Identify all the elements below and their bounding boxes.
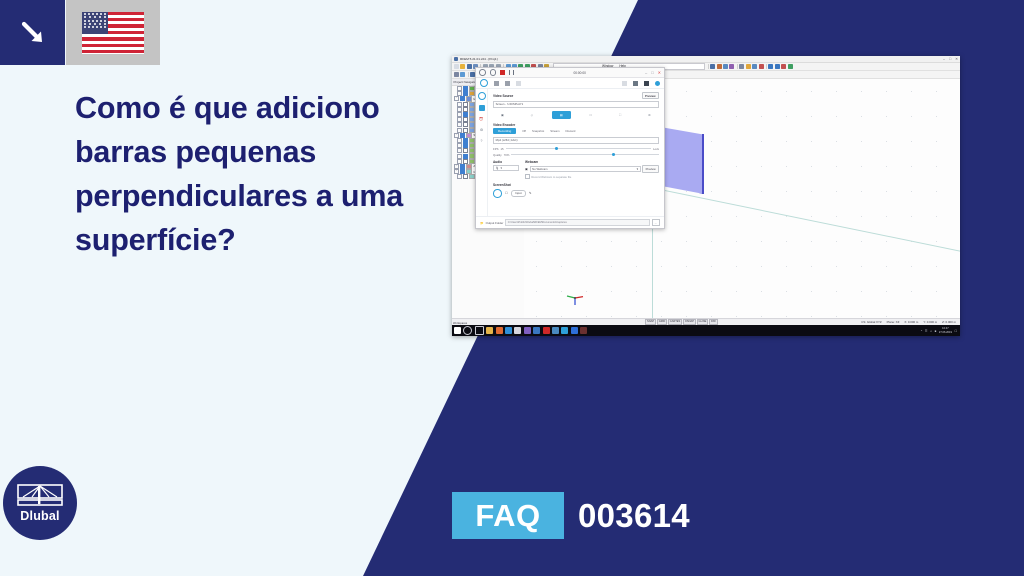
open-icon[interactable] (460, 64, 465, 69)
rfem-doc-icon[interactable] (552, 327, 559, 334)
quality-value: 70% (504, 153, 510, 157)
output-folder-label: Output Folder (486, 221, 504, 225)
deform-icon[interactable] (717, 64, 722, 69)
screenshot-controls[interactable]: ☐ Input ✎ (493, 189, 659, 198)
help-icon[interactable]: ? (479, 138, 485, 144)
chevron-up-icon[interactable]: ^ (921, 329, 922, 333)
faq-badge-label: FAQ (475, 498, 540, 534)
output-folder-path[interactable]: C:\Users\Public\Dlubal\RFEM\Documents\Ca… (505, 219, 649, 226)
quality-slider-row[interactable]: Quality 70% (493, 153, 659, 157)
battery-icon[interactable]: ■ (935, 329, 937, 333)
slide-canvas: Como é que adiciono barras pequenas perp… (0, 0, 1024, 576)
status-cs: CS: Global XYZ (861, 320, 881, 324)
codec-select[interactable]: Mp4 (x264 | AAC) (493, 137, 659, 144)
application-screenshot: RFEM 5.21.01.x64 - [Proj1] – □ ✕ (452, 56, 960, 336)
us-flag-icon (82, 12, 144, 54)
camera-icon[interactable] (490, 69, 497, 76)
mode-region-icon[interactable]: ◇ (522, 111, 541, 119)
status-readout: CS: Global XYZ Plane: XZ X: 0.000 m Y: 0… (861, 320, 960, 324)
webcam-device-select[interactable]: No Webcam ▾ (530, 166, 641, 172)
corner-arrow-block (0, 0, 65, 65)
fps-value: 15 (500, 147, 503, 151)
system-tray[interactable]: ^ ☰ ♫ ■ 10:47 27.06.2019 ☐ (921, 327, 960, 333)
mesh-icon[interactable] (739, 64, 744, 69)
settings-icon[interactable] (479, 69, 486, 76)
output-folder-browse-button[interactable]: ... (652, 219, 660, 226)
cursor-tool-icon[interactable] (494, 81, 499, 86)
copy-icon[interactable]: ☐ (505, 191, 508, 195)
gear-tool-icon[interactable] (655, 81, 660, 86)
webcam-select-row[interactable]: ▣ No Webcam ▾ Preview (525, 165, 659, 172)
dlubal-logo: Dlubal (3, 466, 77, 540)
select-icon[interactable] (454, 72, 459, 77)
rstab-icon[interactable] (533, 327, 540, 334)
video-tool-icon[interactable] (644, 81, 649, 86)
mode-fullscreen-icon[interactable]: ⛶ (611, 111, 630, 119)
microphone-select[interactable]: 🎙 ▾ (493, 165, 519, 171)
save-icon[interactable] (467, 64, 472, 69)
monitor-icon[interactable] (479, 105, 485, 111)
page-title: Como é que adiciono barras pequenas perp… (75, 86, 445, 262)
notifications-icon[interactable]: ☐ (954, 329, 957, 333)
mode-window-icon[interactable]: □ (581, 111, 600, 119)
chevron-down-icon[interactable]: ▾ (637, 166, 638, 172)
recorder-taskbar-icon[interactable] (580, 327, 587, 334)
edge-icon[interactable] (505, 327, 512, 334)
status-coord-x: X: 0.000 m (904, 320, 918, 324)
volume-icon[interactable]: ♫ (930, 329, 932, 333)
history-icon[interactable]: ⏰ (479, 116, 485, 122)
encoder-tab-off[interactable]: Off (522, 129, 526, 133)
recorder-toolbar[interactable] (476, 78, 664, 89)
search-icon[interactable] (463, 326, 472, 335)
fps-slider-row[interactable]: FPS 15 Lock (493, 147, 659, 151)
record-button-icon[interactable] (480, 79, 488, 87)
cad-status-bar: SNAP GRID CARTES OSNAP GLINE DXF CS: Glo… (452, 318, 960, 325)
video-encoder-label: Video Encoder (493, 123, 659, 127)
recorder-sidebar[interactable]: ⏰ ⚙ ? (476, 89, 488, 216)
windows-start-icon[interactable] (454, 327, 461, 334)
audio-webcam-row: Audio 🎙 ▾ Webcam ▣ No Webcam (493, 160, 659, 179)
supports-icon[interactable] (729, 64, 734, 69)
app-icon (454, 57, 458, 61)
screenshot-input-button[interactable]: Input (511, 190, 525, 198)
recorder-timer: 00:00:00 (518, 71, 641, 75)
video-source-label: Video Source Preview (493, 92, 659, 99)
taskbar-clock[interactable]: 10:47 27.06.2019 (939, 327, 952, 333)
audio-column: Audio 🎙 ▾ (493, 160, 519, 179)
file-explorer-icon[interactable] (486, 327, 493, 334)
video-source-preview-button[interactable]: Preview (642, 92, 659, 99)
outlook-icon[interactable] (571, 327, 578, 334)
cad-window-controls[interactable]: – □ ✕ (943, 57, 958, 61)
webcam-device-icon: ▣ (525, 167, 528, 171)
eraser-tool-icon[interactable] (516, 81, 521, 86)
arrow-down-right-icon (18, 18, 48, 48)
windows-taskbar[interactable]: ^ ☰ ♫ ■ 10:47 27.06.2019 ☐ (452, 325, 960, 336)
recorder-minimize-icon[interactable]: – (645, 70, 647, 75)
capture-button-icon[interactable] (493, 189, 502, 198)
webcam-label: Webcam (525, 160, 659, 164)
fps-slider-track[interactable] (506, 148, 652, 149)
gear-icon[interactable]: ⚙ (479, 127, 485, 133)
status-plane: Plane: XZ (887, 320, 900, 324)
home-icon[interactable] (478, 92, 486, 100)
mode-camera-icon[interactable]: ▣ (493, 111, 512, 119)
navigator-item-checkbox[interactable] (463, 174, 468, 179)
coordinate-gizmo-icon[interactable] (564, 286, 586, 306)
recorder-content: Video Source Preview Screen - \\.\DISPLA… (488, 89, 664, 216)
report-icon[interactable] (752, 64, 757, 69)
cad-title-bar: RFEM 5.21.01.x64 - [Proj1] – □ ✕ (452, 56, 960, 63)
task-view-icon[interactable] (475, 326, 484, 335)
brush-tool-icon[interactable] (633, 81, 638, 86)
browser-icon[interactable] (496, 327, 503, 334)
recorder-body: ⏰ ⚙ ? Video Source Preview Screen - \\.\… (476, 89, 664, 216)
recorder-maximize-icon[interactable]: □ (651, 70, 653, 75)
view-front-icon[interactable] (768, 64, 773, 69)
sections-icon[interactable] (723, 64, 728, 69)
pencil-icon[interactable]: ✎ (529, 191, 532, 195)
truss-bridge-icon (17, 484, 63, 508)
encoder-tab-discard[interactable]: Discard (566, 129, 576, 133)
region-tool-icon[interactable] (622, 81, 627, 86)
recorder-close-icon[interactable]: ✕ (658, 70, 661, 75)
pdf-icon[interactable] (759, 64, 764, 69)
encoder-tab-recording[interactable]: Recording (493, 128, 516, 134)
faq-badge: FAQ (452, 492, 564, 539)
maximize-icon[interactable]: □ (949, 57, 951, 61)
webcam-separate-file-check[interactable]: Record Webcam to separate file (525, 174, 659, 179)
mode-screen-icon[interactable]: ▤ (552, 111, 571, 119)
language-flag-box (66, 0, 160, 65)
screen-recorder-dialog[interactable]: 00:00:00 – □ ✕ ⏰ (475, 67, 665, 229)
recorder-footer: 📁 Output Folder C:\Users\Public\Dlubal\R… (476, 216, 664, 228)
recorder-title-bar: 00:00:00 – □ ✕ (476, 68, 664, 78)
notes-icon[interactable] (514, 327, 521, 334)
pen-tool-icon[interactable] (505, 81, 510, 86)
folder-icon: 📁 (480, 221, 484, 225)
chevron-down-icon[interactable]: ▾ (500, 166, 501, 170)
stop-icon[interactable] (500, 70, 505, 75)
teams-icon[interactable] (561, 327, 568, 334)
webcam-column: Webcam ▣ No Webcam ▾ Preview (525, 160, 659, 179)
video-encoder-tabs[interactable]: Recording Off Snapshot Stream Discard (493, 128, 659, 134)
video-source-modes[interactable]: ▣ ◇ ▤ □ ⛶ ⊘ (493, 111, 659, 119)
surface-edge (702, 134, 704, 194)
encoder-tab-stream[interactable]: Stream (550, 129, 559, 133)
audio-label: Audio (493, 160, 519, 164)
cad-window-title: RFEM 5.21.01.x64 - [Proj1] (460, 57, 498, 61)
logo-brand-text: Dlubal (20, 509, 59, 523)
network-icon[interactable]: ☰ (925, 329, 928, 333)
new-icon[interactable] (454, 64, 459, 69)
fps-lock-checkbox[interactable]: Lock (653, 147, 659, 151)
quality-label: Quality (493, 153, 502, 157)
quality-slider-track[interactable] (511, 154, 659, 155)
pause-icon[interactable] (509, 70, 515, 75)
status-coord-y: Y: 0.000 m (923, 320, 937, 324)
rfem-icon[interactable] (524, 327, 531, 334)
pdf-reader-icon[interactable] (543, 327, 550, 334)
mode-off-icon[interactable]: ⊘ (640, 111, 659, 119)
fps-label: FPS (493, 147, 498, 151)
view-top-icon[interactable] (775, 64, 780, 69)
expand-toggle-icon[interactable] (457, 174, 462, 179)
view-iso-icon[interactable] (788, 64, 793, 69)
node-icon[interactable] (460, 72, 465, 77)
faq-number: 003614 (578, 492, 690, 539)
close-icon[interactable]: ✕ (955, 57, 958, 61)
clock-date: 27.06.2019 (939, 331, 952, 334)
encoder-tab-snapshot[interactable]: Snapshot (532, 129, 544, 133)
webcam-preview-button[interactable]: Preview (642, 165, 659, 172)
calculate-icon[interactable] (746, 64, 751, 69)
video-source-value[interactable]: Screen - \\.\DISPLAY1 (493, 101, 659, 108)
microphone-icon: 🎙 (495, 166, 499, 170)
status-coord-z: Z: 0.000 m (942, 320, 956, 324)
results-icon[interactable] (710, 64, 715, 69)
screenshot-label: ScreenShot (493, 183, 659, 187)
minimize-icon[interactable]: – (943, 57, 945, 61)
view-side-icon[interactable] (781, 64, 786, 69)
